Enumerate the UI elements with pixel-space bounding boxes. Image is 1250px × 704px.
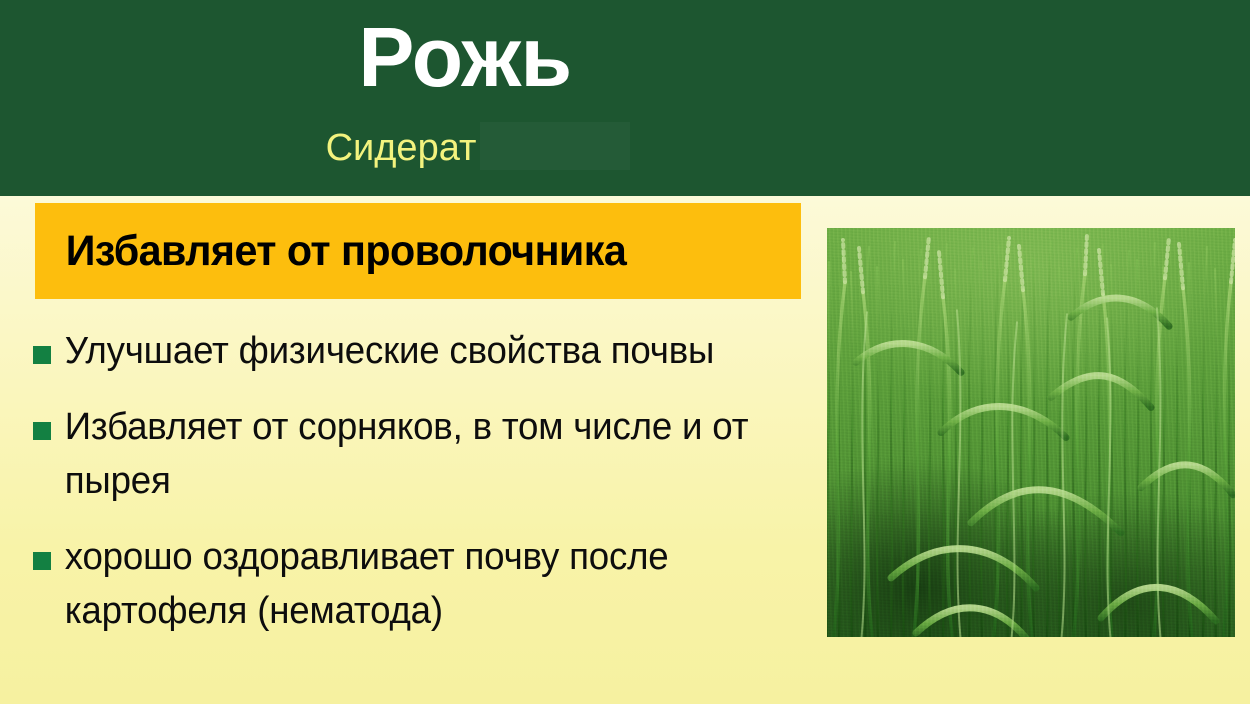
photo-texture-overlay: [827, 228, 1235, 637]
page-subtitle: Сидерат: [0, 128, 1026, 170]
benefits-list: Улучшает физические свойства почвы Избав…: [30, 325, 820, 661]
list-item: Избавляет от сорняков, в том числе и от …: [30, 401, 820, 509]
list-item-label: Улучшает физические свойства почвы: [30, 325, 792, 379]
slide-root: Рожь Сидерат Избавляет от проволочника У…: [0, 0, 1250, 704]
list-item: Улучшает физические свойства почвы: [30, 325, 820, 379]
list-item: хорошо оздоравливает почву после картофе…: [30, 531, 820, 639]
rye-field-photo: [827, 228, 1235, 637]
header-band: Рожь Сидерат: [0, 0, 1250, 196]
list-item-label: Избавляет от сорняков, в том числе и от …: [30, 401, 792, 509]
page-title: Рожь: [0, 13, 1090, 101]
highlight-banner: Избавляет от проволочника: [35, 203, 801, 299]
highlight-banner-label: Избавляет от проволочника: [35, 227, 626, 276]
list-item-label: хорошо оздоравливает почву после картофе…: [30, 531, 792, 639]
